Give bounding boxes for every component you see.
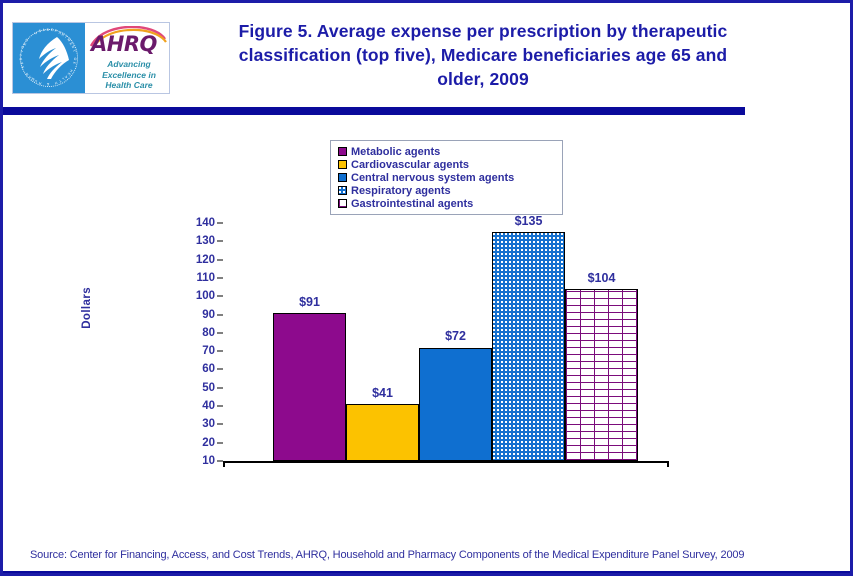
legend-swatch-icon: [338, 173, 347, 182]
y-axis-tick-label: 110: [196, 272, 215, 284]
y-axis-tick-label: 60: [202, 363, 215, 375]
header: DEPARTMENT OF HEALTH & HUMAN SERVICES US…: [3, 3, 850, 105]
bar-value-label: $104: [565, 271, 638, 285]
y-axis-tick-label: 130: [196, 235, 215, 247]
chart: Metabolic agentsCardiovascular agentsCen…: [3, 115, 850, 533]
ahrq-logo: DEPARTMENT OF HEALTH & HUMAN SERVICES US…: [12, 22, 170, 94]
legend-item[interactable]: Metabolic agents: [338, 145, 557, 158]
legend-item[interactable]: Gastrointestinal agents: [338, 197, 557, 210]
hhs-seal-icon: DEPARTMENT OF HEALTH & HUMAN SERVICES US…: [13, 23, 85, 93]
x-axis-tick-right: [667, 461, 669, 467]
ahrq-tagline: Advancing Excellence in Health Care: [93, 59, 165, 91]
ahrq-acronym: AHRQ: [91, 34, 157, 55]
bar-value-label: $41: [346, 386, 419, 400]
y-axis-tick-label: 80: [202, 327, 215, 339]
footer-divider: [3, 571, 850, 576]
bar: [273, 313, 346, 461]
bar: [346, 404, 419, 461]
legend-item-label: Central nervous system agents: [351, 172, 514, 184]
legend-item-label: Respiratory agents: [351, 185, 451, 197]
legend-item-label: Metabolic agents: [351, 146, 440, 158]
x-axis-line: [223, 461, 669, 463]
bar: [419, 348, 492, 462]
y-axis-title: Dollars: [81, 287, 93, 329]
bar-value-label: $135: [492, 214, 565, 228]
legend-item-label: Cardiovascular agents: [351, 159, 469, 171]
tagline-line-3: Health Care: [93, 80, 165, 91]
y-axis-tick-label: 20: [202, 437, 215, 449]
hhs-seal-text: DEPARTMENT OF HEALTH & HUMAN SERVICES US…: [17, 26, 79, 88]
legend-item[interactable]: Respiratory agents: [338, 184, 557, 197]
y-axis-tick-label: 120: [196, 254, 215, 266]
bar-value-label: $91: [273, 295, 346, 309]
x-axis-tick-left: [223, 461, 225, 467]
legend-item-label: Gastrointestinal agents: [351, 198, 473, 210]
chart-legend: Metabolic agentsCardiovascular agentsCen…: [330, 140, 563, 215]
y-axis-tick-label: 100: [196, 290, 215, 302]
y-axis-tick-label: 70: [202, 345, 215, 357]
y-axis-tick-label: 30: [202, 418, 215, 430]
legend-swatch-icon: [338, 147, 347, 156]
source-note: Source: Center for Financing, Access, an…: [30, 549, 744, 561]
tagline-line-1: Advancing: [93, 59, 165, 70]
bar: [492, 232, 565, 461]
ahrq-wordmark: AHRQ Advancing Excellence in Health Care: [85, 23, 169, 93]
figure-slide: DEPARTMENT OF HEALTH & HUMAN SERVICES US…: [0, 0, 853, 576]
plot-area: $91$41$72$135$104: [223, 223, 669, 461]
y-axis-tick-label: 40: [202, 400, 215, 412]
header-divider: [3, 107, 745, 115]
y-axis-tick-label: 90: [202, 309, 215, 321]
y-axis-tick-label: 10: [202, 455, 215, 467]
bar-value-label: $72: [419, 329, 492, 343]
legend-swatch-icon: [338, 186, 347, 195]
legend-item[interactable]: Central nervous system agents: [338, 171, 557, 184]
legend-item[interactable]: Cardiovascular agents: [338, 158, 557, 171]
tagline-line-2: Excellence in: [93, 70, 165, 81]
bar: [565, 289, 638, 461]
legend-swatch-icon: [338, 199, 347, 208]
page-title: Figure 5. Average expense per prescripti…: [213, 19, 753, 91]
y-axis: 140130120110100908070605040302010: [186, 215, 223, 461]
legend-swatch-icon: [338, 160, 347, 169]
y-axis-tick-label: 140: [196, 217, 215, 229]
y-axis-tick-label: 50: [202, 382, 215, 394]
